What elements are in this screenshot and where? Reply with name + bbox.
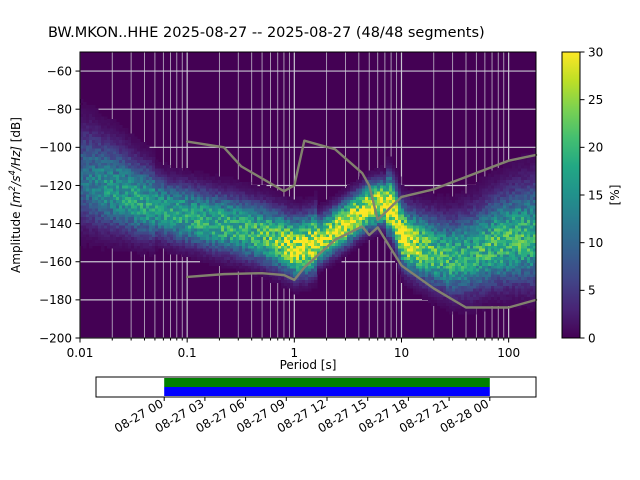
timeline-band-blue[interactable] xyxy=(164,387,490,396)
y-tick-label: −160 xyxy=(39,255,72,269)
colorbar-tick-label: 0 xyxy=(588,331,596,345)
colorbar-label: [%] xyxy=(608,185,622,206)
colorbar-tick-label: 15 xyxy=(588,188,603,202)
y-axis-label: Amplitude [m2/s4/Hz] [dB] xyxy=(8,117,23,273)
colorbar-gradient xyxy=(562,52,580,338)
y-axis-label-text: Amplitude [m2/s4/Hz] [dB] xyxy=(8,117,23,273)
page-title: BW.MKON..HHE 2025-08-27 -- 2025-08-27 (4… xyxy=(48,25,485,41)
y-tick-label: −200 xyxy=(39,331,72,345)
x-axis-label: Period [s] xyxy=(280,358,337,372)
colorbar-tick-label: 10 xyxy=(588,236,603,250)
colorbar-tick-label: 25 xyxy=(588,93,603,107)
x-tick-label: 0.1 xyxy=(178,346,197,360)
y-tick-label: −120 xyxy=(39,179,72,193)
colorbar-tick-label: 20 xyxy=(588,141,603,155)
colorbar-tick-label: 5 xyxy=(588,284,596,298)
y-tick-label: −180 xyxy=(39,293,72,307)
y-tick-label: −60 xyxy=(47,64,72,78)
ppsd-figure: BW.MKON..HHE 2025-08-27 -- 2025-08-27 (4… xyxy=(0,0,640,480)
x-tick-label: 10 xyxy=(394,346,409,360)
x-tick-label: 100 xyxy=(497,346,520,360)
y-tick-label: −80 xyxy=(47,103,72,117)
x-tick-label: 0.01 xyxy=(67,346,94,360)
ppsd-axes: 0.010.1110100 −60−80−100−120−140−160−180… xyxy=(39,52,537,360)
figure-canvas: BW.MKON..HHE 2025-08-27 -- 2025-08-27 (4… xyxy=(0,0,640,480)
timeline-band-green[interactable] xyxy=(164,378,490,387)
y-tick-label: −140 xyxy=(39,217,72,231)
colorbar-tick-label: 30 xyxy=(588,45,603,59)
y-tick-label: −100 xyxy=(39,141,72,155)
